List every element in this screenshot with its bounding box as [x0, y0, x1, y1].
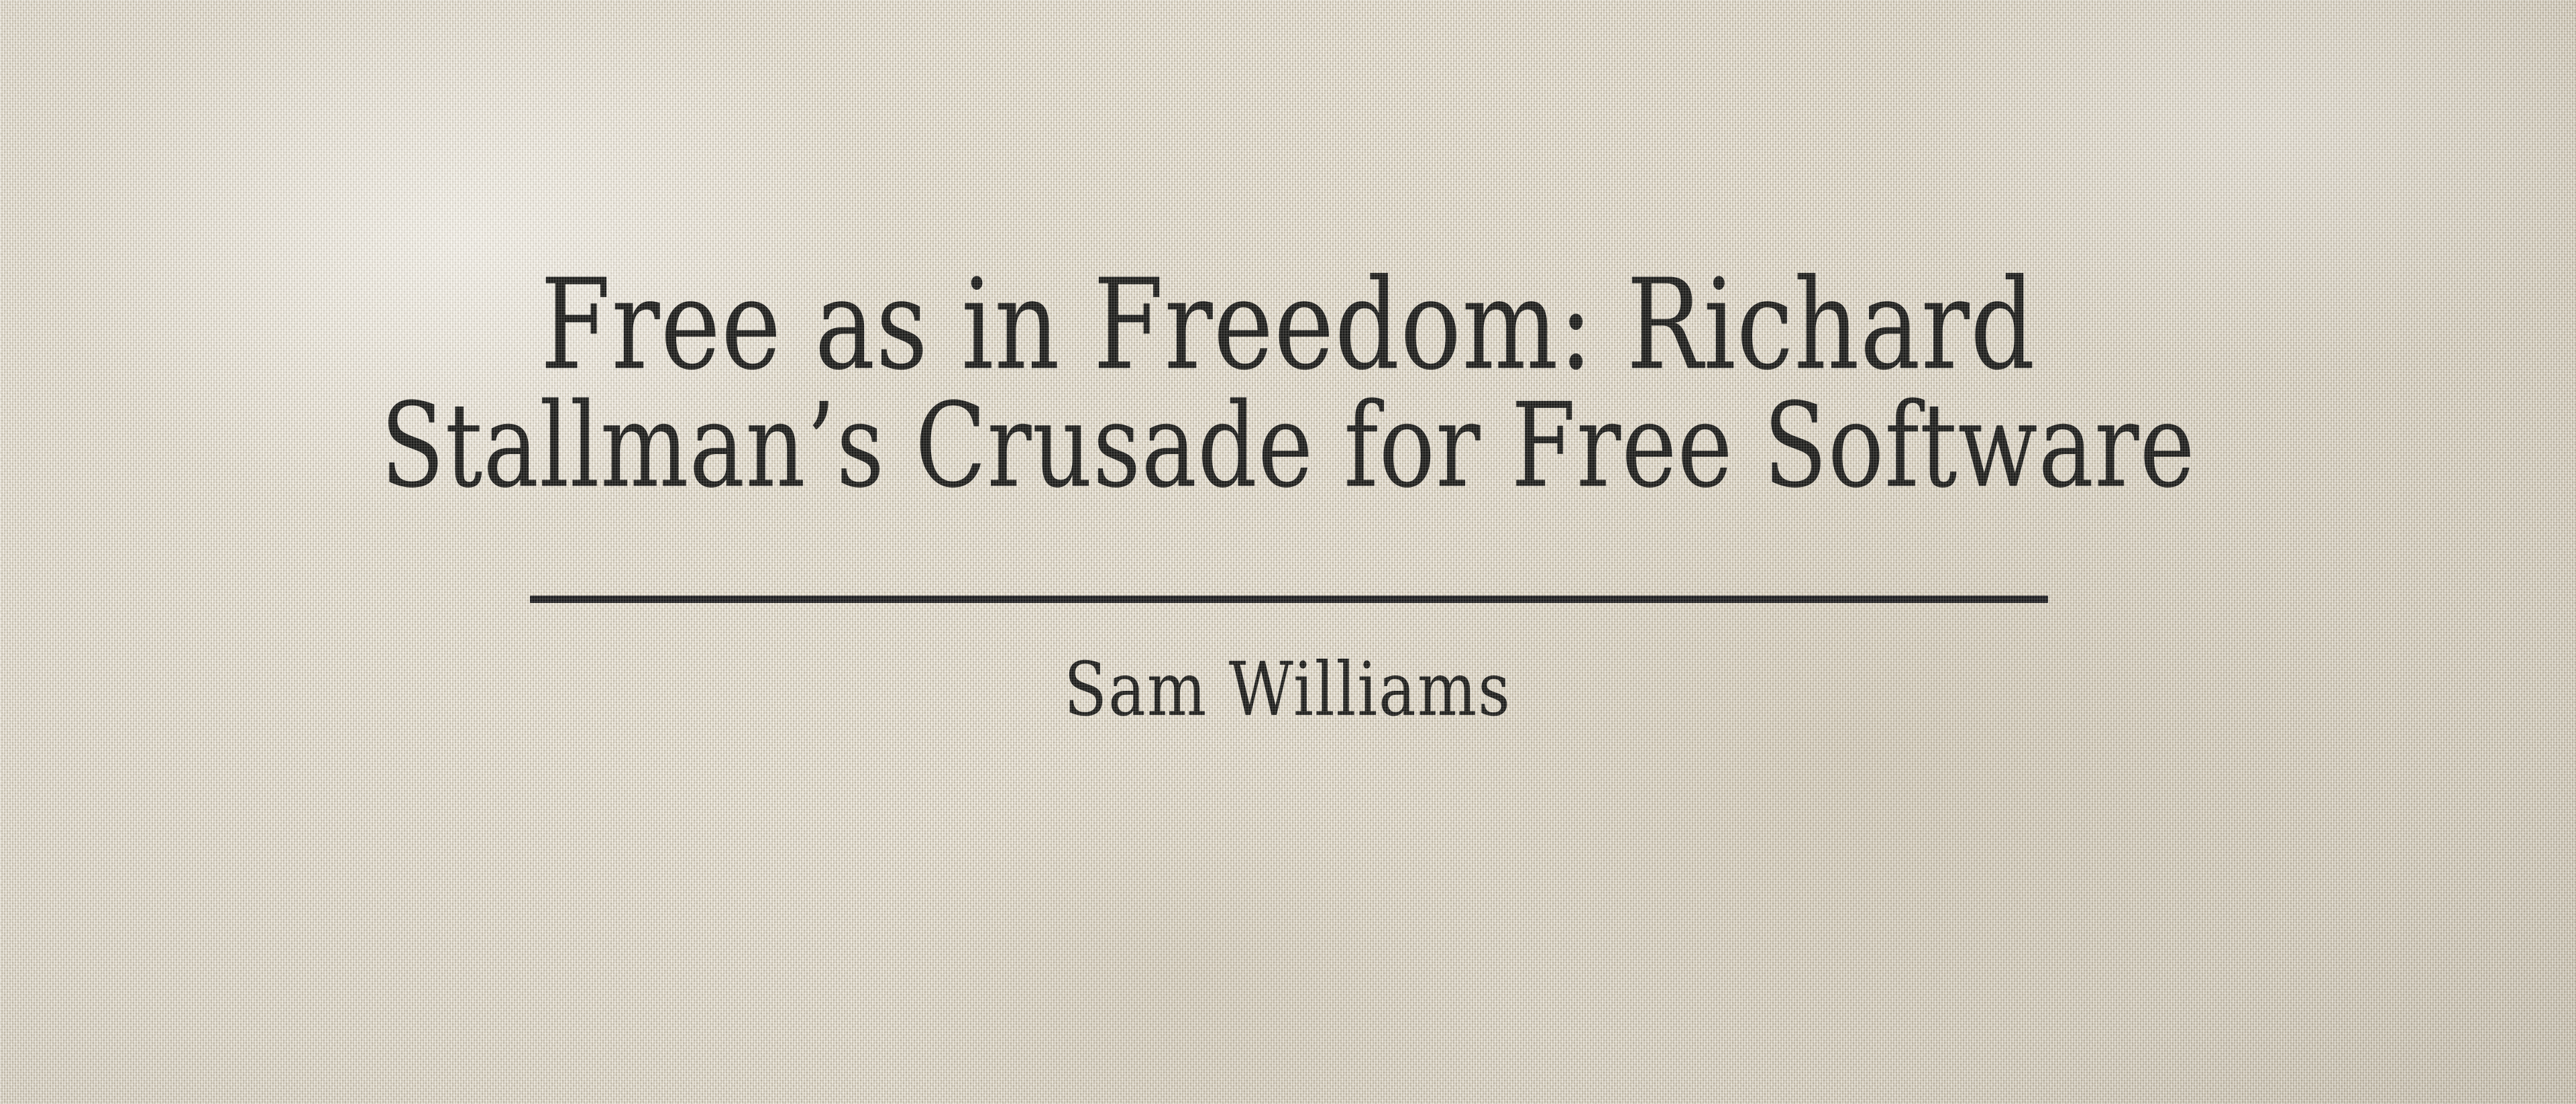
title-line-1: Free as in Freedom: Richard	[180, 262, 2396, 390]
cover-content: Free as in Freedom: Richard Stallman’s C…	[0, 0, 2576, 1104]
title-author-divider	[530, 596, 2048, 603]
title-line-2: Stallman’s Crusade for Free Software	[154, 380, 2421, 512]
book-cover-page: Free as in Freedom: Richard Stallman’s C…	[0, 0, 2576, 1104]
author-name: Sam Williams	[1065, 650, 1512, 730]
divider-rule	[530, 596, 2048, 603]
author-byline: Sam Williams	[0, 652, 2576, 727]
book-title: Free as in Freedom: Richard Stallman’s C…	[0, 265, 2576, 506]
